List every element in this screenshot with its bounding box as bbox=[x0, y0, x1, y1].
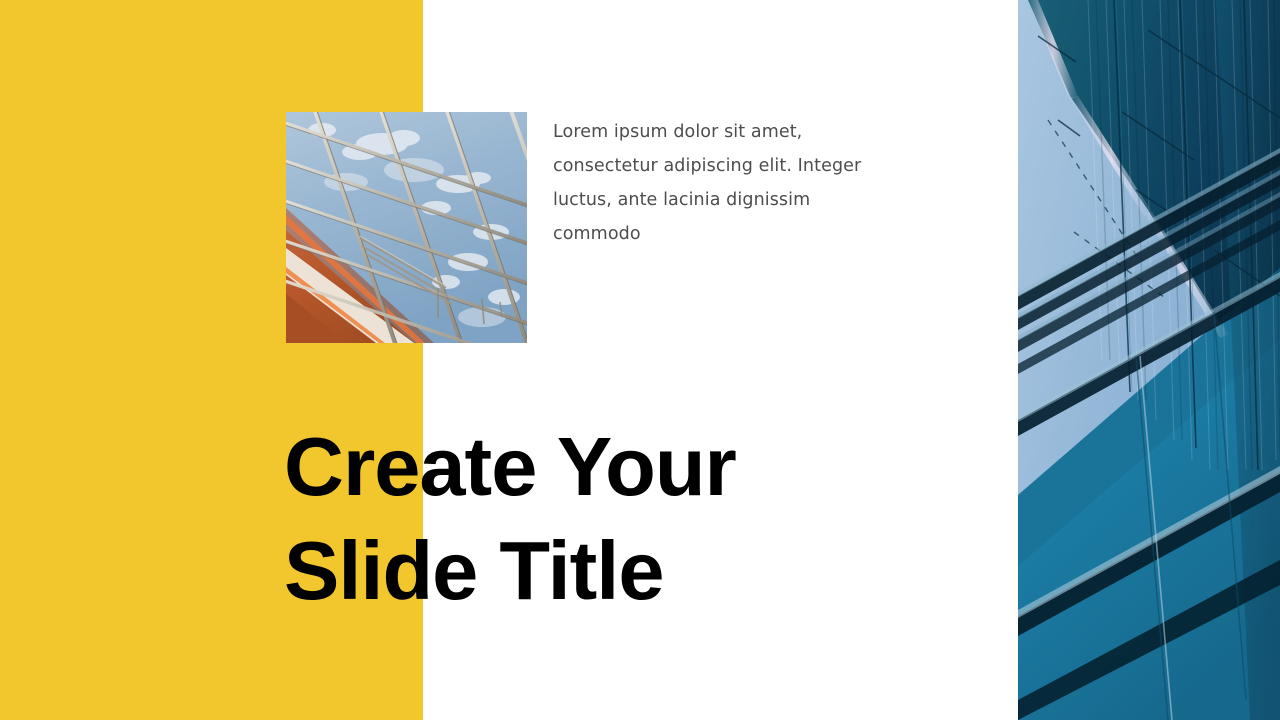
glass-atrium-roof-photo bbox=[286, 112, 527, 343]
body-paragraph: Lorem ipsum dolor sit amet, consectetur … bbox=[553, 115, 873, 251]
slide-title: Create Your Slide Title bbox=[284, 415, 984, 623]
slide-canvas: Lorem ipsum dolor sit amet, consectetur … bbox=[0, 0, 1280, 720]
blue-glass-tower-photo bbox=[1018, 0, 1280, 720]
